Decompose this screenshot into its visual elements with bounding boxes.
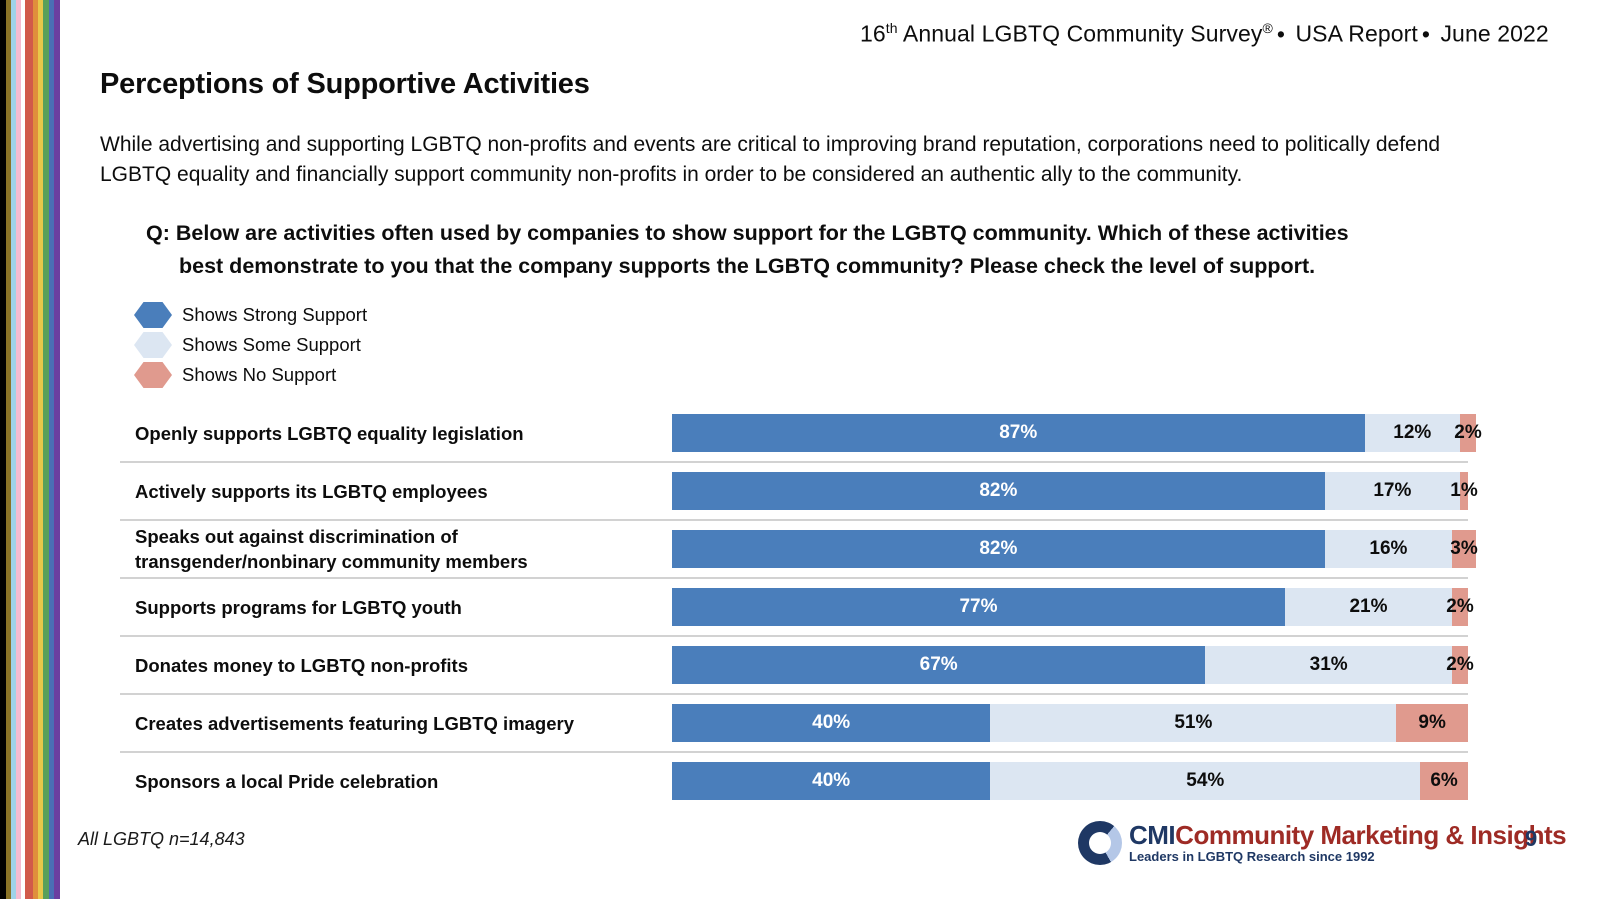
- bar-value-no-support: 6%: [1430, 770, 1457, 792]
- legend-item-some[interactable]: Shows Some Support: [134, 330, 367, 360]
- chart-row: Sponsors a local Pride celebration40%54%…: [120, 751, 1468, 809]
- bar-segment-strong-support: 67%: [672, 646, 1205, 684]
- chart-row-label: Donates money to LGBTQ non-profits: [120, 653, 672, 678]
- chart-row: Openly supports LGBTQ equality legislati…: [120, 405, 1468, 461]
- bar-value-strong-support: 77%: [959, 596, 997, 618]
- chart-row: Speaks out against discrimination oftran…: [120, 519, 1468, 577]
- chart-row-label-line1: Actively supports its LGBTQ employees: [135, 479, 672, 504]
- page-number: 9: [1525, 826, 1537, 852]
- bar-segment-no-support: 2%: [1460, 414, 1476, 452]
- bar-value-strong-support: 40%: [812, 712, 850, 734]
- cmi-full-name: Community Marketing & Insights: [1175, 820, 1566, 850]
- intro-paragraph: While advertising and supporting LGBTQ n…: [100, 130, 1460, 190]
- chart-row-label: Sponsors a local Pride celebration: [120, 769, 672, 794]
- bar-segment-some-support: 51%: [990, 704, 1396, 742]
- registered-trademark-icon: ®: [1262, 20, 1272, 36]
- bar-value-strong-support: 82%: [979, 538, 1017, 560]
- cmi-abbrev: CMI: [1129, 820, 1175, 850]
- chart-row-bar: 67%31%2%: [672, 646, 1468, 684]
- bar-value-no-support: 2%: [1454, 422, 1481, 444]
- bar-value-some-support: 12%: [1393, 422, 1431, 444]
- bar-value-some-support: 31%: [1310, 654, 1348, 676]
- cmi-ring-icon: [1078, 821, 1122, 865]
- chart-row-label-line1: Openly supports LGBTQ equality legislati…: [135, 421, 672, 446]
- chart-row-label-line1: Sponsors a local Pride celebration: [135, 769, 672, 794]
- stacked-bar-chart: Openly supports LGBTQ equality legislati…: [120, 405, 1468, 809]
- chart-row-label-line1: Creates advertisements featuring LGBTQ i…: [135, 711, 672, 736]
- header-survey-name: Annual LGBTQ Community Survey: [898, 21, 1263, 47]
- header-date: June 2022: [1440, 21, 1548, 47]
- chart-row-label-line2: transgender/nonbinary community members: [135, 549, 672, 574]
- slide-header: 16th Annual LGBTQ Community Survey®• USA…: [860, 20, 1540, 48]
- sample-size-footnote: All LGBTQ n=14,843: [78, 829, 245, 850]
- chart-legend: Shows Strong SupportShows Some SupportSh…: [134, 300, 367, 390]
- legend-hexagon-icon-no: [134, 362, 172, 388]
- legend-item-strong[interactable]: Shows Strong Support: [134, 300, 367, 330]
- header-region: USA Report: [1295, 21, 1417, 47]
- legend-item-no[interactable]: Shows No Support: [134, 360, 367, 390]
- chart-row-label: Speaks out against discrimination oftran…: [120, 524, 672, 574]
- legend-hexagon-icon-strong: [134, 302, 172, 328]
- legend-label-some: Shows Some Support: [182, 334, 361, 356]
- header-separator-2: •: [1418, 21, 1434, 47]
- header-separator-1: •: [1273, 21, 1289, 47]
- bar-segment-some-support: 31%: [1205, 646, 1452, 684]
- chart-row-label: Openly supports LGBTQ equality legislati…: [120, 421, 672, 446]
- chart-row: Actively supports its LGBTQ employees82%…: [120, 461, 1468, 519]
- question-line-2: best demonstrate to you that the company…: [146, 250, 1446, 283]
- bar-value-strong-support: 87%: [999, 422, 1037, 444]
- bar-value-strong-support: 40%: [812, 770, 850, 792]
- chart-row-label-line1: Speaks out against discrimination of: [135, 524, 672, 549]
- cmi-logo: CMICommunity Marketing & Insights Leader…: [1078, 818, 1566, 868]
- pride-flag-stripe: [0, 0, 60, 899]
- question-line-1: Q: Below are activities often used by co…: [146, 221, 1349, 245]
- bar-value-some-support: 51%: [1174, 712, 1212, 734]
- survey-question: Q: Below are activities often used by co…: [146, 217, 1446, 283]
- bar-segment-no-support: 3%: [1452, 530, 1476, 568]
- bar-segment-some-support: 54%: [990, 762, 1420, 800]
- chart-row-bar: 77%21%2%: [672, 588, 1468, 626]
- chart-row-label: Actively supports its LGBTQ employees: [120, 479, 672, 504]
- header-ordinal-suffix: th: [886, 20, 898, 36]
- chart-row: Creates advertisements featuring LGBTQ i…: [120, 693, 1468, 751]
- chart-row-bar: 87%12%2%: [672, 414, 1468, 452]
- bar-value-some-support: 17%: [1373, 480, 1411, 502]
- chart-row-label: Creates advertisements featuring LGBTQ i…: [120, 711, 672, 736]
- chart-row: Supports programs for LGBTQ youth77%21%2…: [120, 577, 1468, 635]
- bar-segment-no-support: 6%: [1420, 762, 1468, 800]
- bar-value-some-support: 21%: [1349, 596, 1387, 618]
- legend-label-strong: Shows Strong Support: [182, 304, 367, 326]
- legend-hexagon-icon-some: [134, 332, 172, 358]
- bar-value-some-support: 54%: [1186, 770, 1224, 792]
- bar-segment-strong-support: 40%: [672, 762, 990, 800]
- bar-value-no-support: 9%: [1418, 712, 1445, 734]
- chart-row-bar: 40%54%6%: [672, 762, 1468, 800]
- bar-segment-strong-support: 40%: [672, 704, 990, 742]
- chart-row-label-line1: Donates money to LGBTQ non-profits: [135, 653, 672, 678]
- chart-row-bar: 82%17%1%: [672, 472, 1468, 510]
- header-survey-ordinal: 16: [860, 21, 886, 47]
- bar-value-no-support: 3%: [1450, 538, 1477, 560]
- bar-value-no-support: 2%: [1446, 596, 1473, 618]
- bar-segment-strong-support: 82%: [672, 472, 1325, 510]
- page-title: Perceptions of Supportive Activities: [100, 68, 590, 101]
- pride-stripe-purple: [54, 0, 60, 899]
- chart-row-label: Supports programs for LGBTQ youth: [120, 595, 672, 620]
- bar-value-some-support: 16%: [1369, 538, 1407, 560]
- cmi-wordmark-top: CMICommunity Marketing & Insights: [1129, 822, 1566, 849]
- bar-segment-strong-support: 87%: [672, 414, 1365, 452]
- legend-label-no: Shows No Support: [182, 364, 336, 386]
- bar-value-no-support: 2%: [1446, 654, 1473, 676]
- bar-segment-no-support: 2%: [1452, 588, 1468, 626]
- bar-segment-some-support: 21%: [1285, 588, 1452, 626]
- bar-segment-strong-support: 77%: [672, 588, 1285, 626]
- bar-value-strong-support: 67%: [920, 654, 958, 676]
- bar-value-strong-support: 82%: [979, 480, 1017, 502]
- bar-segment-some-support: 16%: [1325, 530, 1452, 568]
- bar-segment-no-support: 2%: [1452, 646, 1468, 684]
- cmi-tagline: Leaders in LGBTQ Research since 1992: [1129, 849, 1566, 864]
- bar-segment-no-support: 1%: [1460, 472, 1468, 510]
- cmi-wordmark: CMICommunity Marketing & Insights Leader…: [1129, 822, 1566, 864]
- bar-segment-some-support: 12%: [1365, 414, 1461, 452]
- chart-row: Donates money to LGBTQ non-profits67%31%…: [120, 635, 1468, 693]
- pride-stripe-red: [25, 0, 33, 899]
- bar-value-no-support: 1%: [1450, 480, 1477, 502]
- bar-segment-strong-support: 82%: [672, 530, 1325, 568]
- bar-segment-some-support: 17%: [1325, 472, 1460, 510]
- chart-row-bar: 40%51%9%: [672, 704, 1468, 742]
- chart-row-bar: 82%16%3%: [672, 530, 1468, 568]
- chart-row-label-line1: Supports programs for LGBTQ youth: [135, 595, 672, 620]
- bar-segment-no-support: 9%: [1396, 704, 1468, 742]
